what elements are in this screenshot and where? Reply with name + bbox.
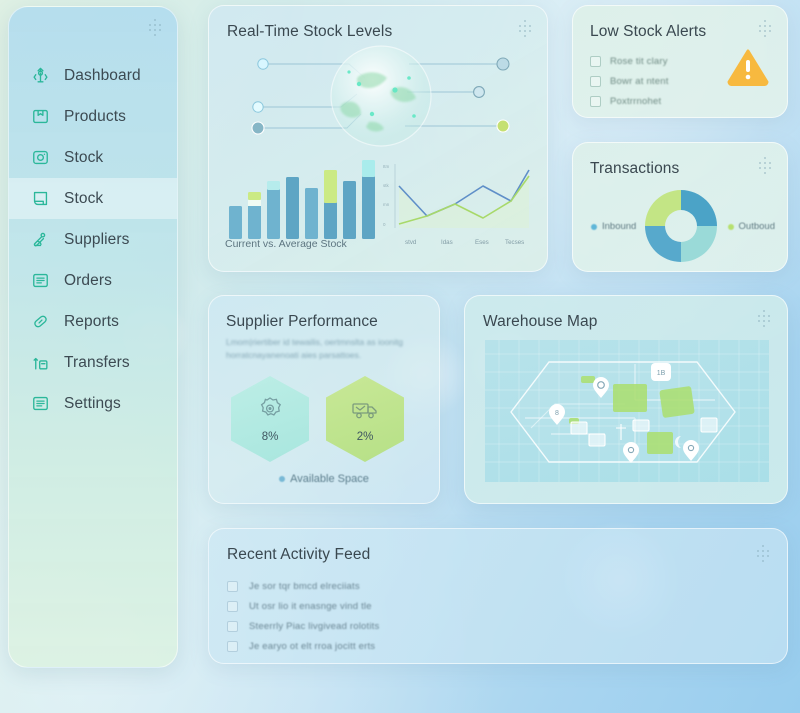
alert-label: Bowr at ntent: [610, 76, 669, 87]
sidebar: Dashboard Products: [8, 6, 178, 668]
svg-text:Tecses: Tecses: [505, 239, 524, 246]
checkbox-icon[interactable]: [227, 621, 238, 632]
sidebar-item-reports[interactable]: Reports: [9, 301, 177, 342]
alert-label: Poxtrrnohet: [610, 96, 661, 107]
suppliers-icon: [31, 230, 50, 249]
sidebar-item-stock-box[interactable]: Stock: [9, 178, 177, 219]
list-item[interactable]: Je earyo ot elt rroa jocitt erts: [227, 636, 379, 656]
orders-icon: [31, 271, 50, 290]
metric-value: 8%: [262, 431, 279, 443]
sidebar-item-label: Reports: [64, 313, 119, 331]
sidebar-drag-handle[interactable]: [147, 19, 163, 35]
checkbox-icon[interactable]: [227, 601, 238, 612]
metric-hexagon-delivery[interactable]: 2%: [326, 376, 404, 462]
checkbox-icon[interactable]: [590, 76, 601, 87]
card-drag-handle[interactable]: [517, 20, 533, 36]
sidebar-item-settings[interactable]: Settings: [9, 383, 177, 424]
settings-icon: [31, 394, 50, 413]
sidebar-item-label: Transfers: [64, 354, 130, 372]
svg-text:Eses: Eses: [475, 239, 489, 246]
list-item[interactable]: Poxtrrnohet: [590, 91, 669, 111]
card-drag-handle[interactable]: [757, 20, 773, 36]
legend-dot-icon: [728, 224, 734, 230]
bar-chart-current-vs-average: Current vs. Average Stock: [225, 154, 375, 259]
stock-camera-icon: [31, 148, 50, 167]
legend-dot-icon: [591, 224, 597, 230]
card-supplier-performance: Supplier Performance Lmom|riertiber id t…: [208, 295, 440, 504]
sidebar-item-label: Settings: [64, 395, 121, 413]
card-low-stock-alerts: Low Stock Alerts Rose tit clary Bowr at …: [572, 5, 788, 118]
sidebar-item-transfers[interactable]: Transfers: [9, 342, 177, 383]
metric-value: 2%: [357, 431, 374, 443]
card-title: Warehouse Map: [483, 313, 597, 331]
legend-label: Available Space: [290, 473, 369, 485]
alert-label: Rose tit clary: [610, 56, 668, 67]
dashboard-icon: [31, 66, 50, 85]
svg-text:stk: stk: [383, 183, 390, 188]
activity-list: Je sor tqr bmcd elreciiats Ut osr lio it…: [227, 576, 379, 656]
sidebar-item-label: Products: [64, 108, 126, 126]
metric-hexagons: 8% 2%: [231, 376, 404, 462]
svg-text:1B: 1B: [657, 370, 666, 377]
card-transactions: Transactions Inbound Outboud: [572, 142, 788, 272]
card-title: Low Stock Alerts: [590, 23, 706, 41]
sidebar-item-orders[interactable]: Orders: [9, 260, 177, 301]
sidebar-item-suppliers[interactable]: Suppliers: [9, 219, 177, 260]
card-recent-activity-feed: Recent Activity Feed Je sor tqr bmcd elr…: [208, 528, 788, 664]
sidebar-item-dashboard[interactable]: Dashboard: [9, 55, 177, 96]
description-line-2: horratcnayanenoati aies parsattoes.: [226, 349, 426, 362]
card-warehouse-map: Warehouse Map: [464, 295, 788, 504]
reports-icon: [31, 312, 50, 331]
card-real-time-stock-levels: Real-Time Stock Levels: [208, 5, 548, 272]
description-line-1: Lmom|riertiber id tewailis, oertmnslta a…: [226, 336, 426, 349]
sidebar-item-label: Stock: [64, 190, 103, 208]
line-chart-trend: Itmstk mn0 stvdIdas EsesTecses: [379, 156, 539, 256]
legend-outbound: Outboud: [728, 221, 775, 232]
sidebar-item-label: Dashboard: [64, 67, 141, 85]
list-item[interactable]: Ut osr lio it enasnge vind tle: [227, 596, 379, 616]
sidebar-item-label: Stock: [64, 149, 103, 167]
warning-triangle-icon: [727, 48, 769, 86]
sidebar-nav: Dashboard Products: [9, 55, 177, 424]
delivery-truck-icon: [350, 395, 380, 425]
sidebar-item-products[interactable]: Products: [9, 96, 177, 137]
warehouse-map-view[interactable]: 8 1B: [485, 340, 769, 482]
svg-text:mn: mn: [383, 202, 390, 207]
card-title: Real-Time Stock Levels: [227, 23, 392, 41]
card-title: Recent Activity Feed: [227, 546, 370, 564]
list-item[interactable]: Rose tit clary: [590, 51, 669, 71]
card-drag-handle[interactable]: [757, 157, 773, 173]
checkbox-icon[interactable]: [227, 581, 238, 592]
sidebar-item-label: Orders: [64, 272, 112, 290]
card-drag-handle[interactable]: [756, 310, 772, 326]
products-icon: [31, 107, 50, 126]
checkbox-icon[interactable]: [590, 56, 601, 67]
app-root: Dashboard Products: [0, 0, 800, 713]
donut-chart-transactions: [635, 185, 727, 267]
legend-available-space: Available Space: [209, 473, 439, 485]
legend-inbound: Inbound: [591, 221, 636, 232]
sidebar-item-label: Suppliers: [64, 231, 130, 249]
metric-hexagon-quality[interactable]: 8%: [231, 376, 309, 462]
checkbox-icon[interactable]: [590, 96, 601, 107]
activity-label: Steerrly Piac livgivead rolotits: [249, 621, 379, 632]
svg-text:stvd: stvd: [405, 239, 417, 246]
activity-label: Ut osr lio it enasnge vind tle: [249, 601, 372, 612]
svg-text:8: 8: [555, 410, 559, 417]
legend-label: Outboud: [739, 221, 775, 232]
globe-network-graphic: [209, 44, 548, 149]
svg-text:0: 0: [383, 222, 386, 227]
list-item[interactable]: Steerrly Piac livgivead rolotits: [227, 616, 379, 636]
sidebar-item-stock-camera[interactable]: Stock: [9, 137, 177, 178]
legend-dot-icon: [279, 476, 285, 482]
quality-seal-icon: [255, 395, 285, 425]
transfers-icon: [31, 353, 50, 372]
list-item[interactable]: Je sor tqr bmcd elreciiats: [227, 576, 379, 596]
list-item[interactable]: Bowr at ntent: [590, 71, 669, 91]
card-description: Lmom|riertiber id tewailis, oertmnslta a…: [226, 336, 426, 362]
card-title: Transactions: [590, 160, 679, 178]
card-title: Supplier Performance: [226, 313, 378, 331]
legend-label: Inbound: [602, 221, 636, 232]
pin-3: 1B: [651, 363, 671, 381]
svg-text:Idas: Idas: [441, 239, 453, 246]
activity-label: Je sor tqr bmcd elreciiats: [249, 581, 360, 592]
svg-text:Itm: Itm: [383, 164, 390, 169]
checkbox-icon[interactable]: [227, 641, 238, 652]
activity-label: Je earyo ot elt rroa jocitt erts: [249, 641, 375, 652]
bar-chart-caption: Current vs. Average Stock: [225, 238, 347, 250]
card-drag-handle[interactable]: [755, 545, 771, 561]
stock-box-icon: [31, 189, 50, 208]
alert-list: Rose tit clary Bowr at ntent Poxtrrnohet: [590, 51, 669, 111]
